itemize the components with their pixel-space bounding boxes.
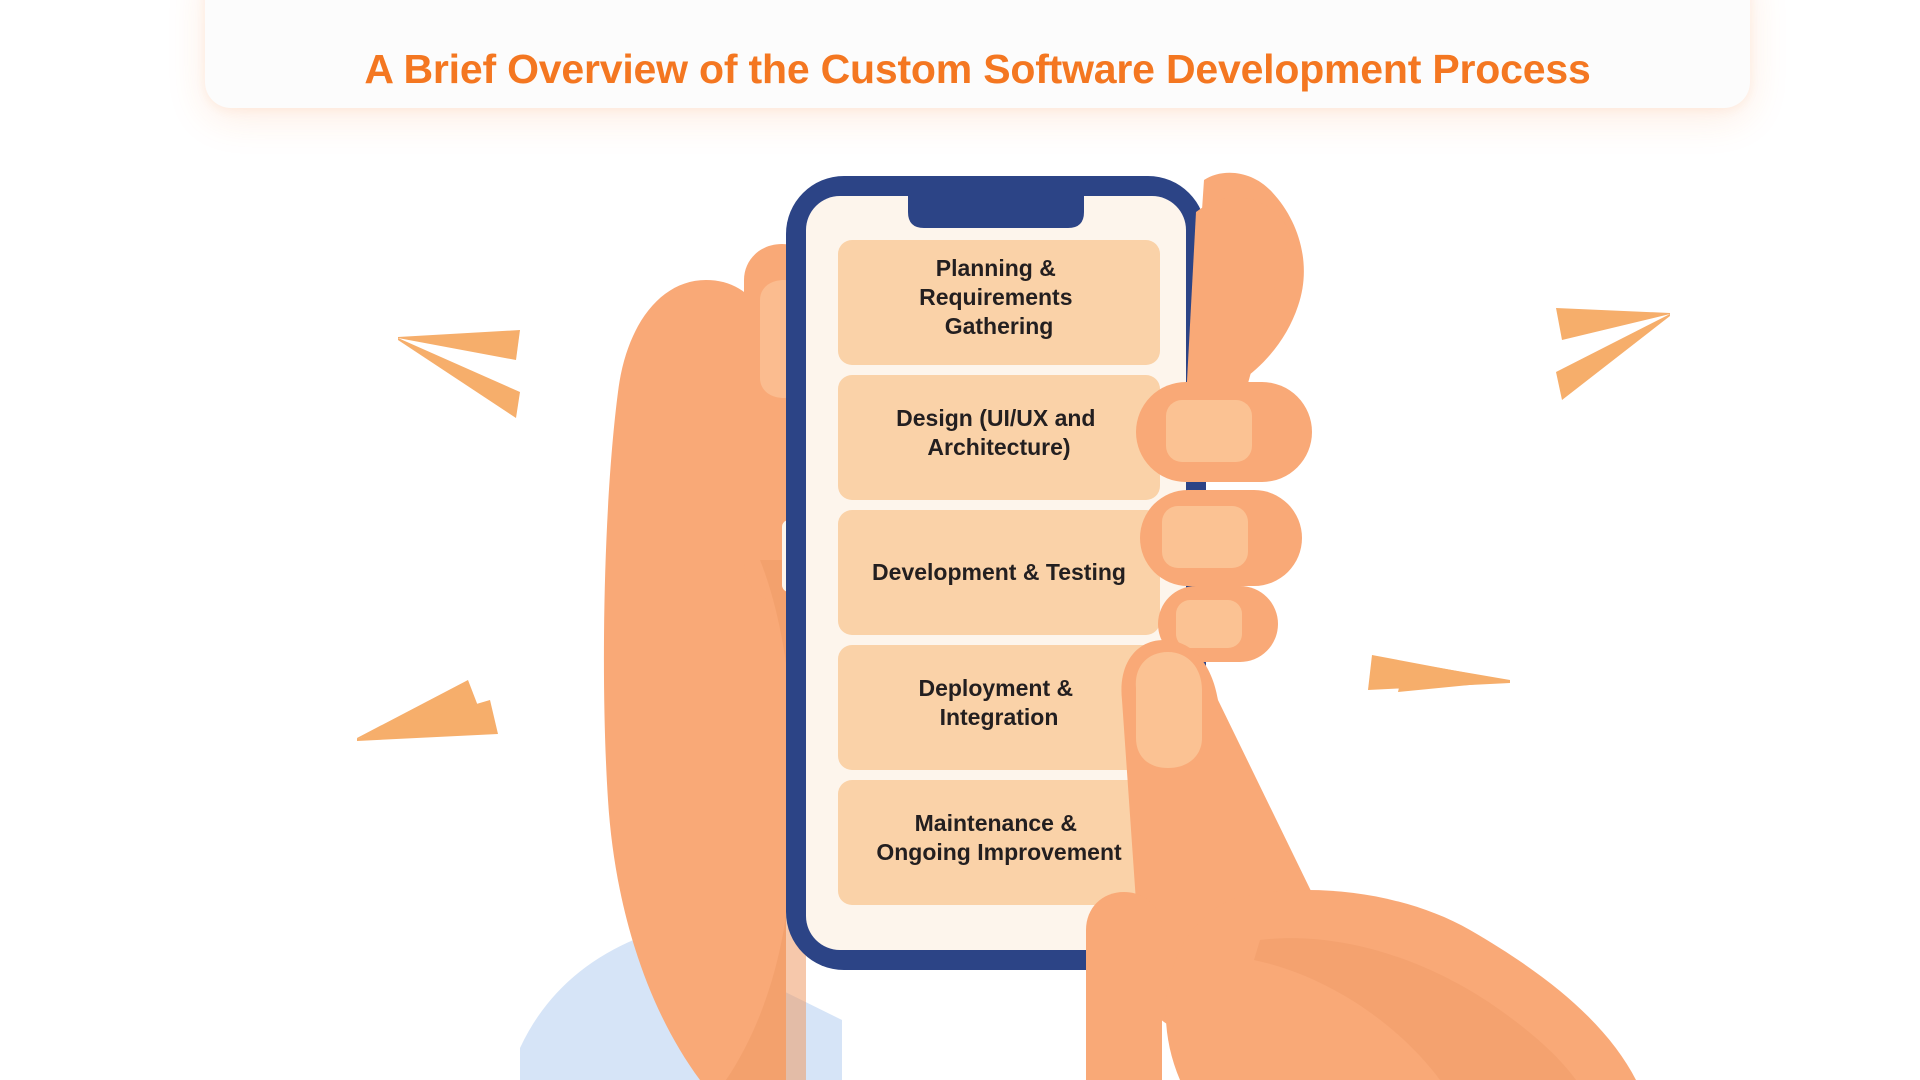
decoration-speed-lines-bottom-left [357, 680, 498, 741]
phone-notch [908, 196, 1084, 228]
decoration-speed-lines-top-right [1556, 308, 1670, 400]
right-finger-2-nail [1162, 506, 1248, 568]
decoration-speed-lines-top-left [398, 330, 520, 418]
infographic-canvas: Planning & Requirements Gathering Design… [0, 0, 1920, 1080]
decoration-speed-lines-bottom-right [1368, 655, 1510, 692]
title-banner: A Brief Overview of the Custom Software … [205, 0, 1750, 108]
page-title: A Brief Overview of the Custom Software … [364, 47, 1590, 92]
right-finger-1-nail [1166, 400, 1252, 462]
right-lower-thumb [1086, 892, 1162, 1080]
right-pointing-finger-nail [1136, 652, 1202, 768]
right-finger-2 [1140, 490, 1302, 586]
right-finger-1 [1136, 382, 1312, 482]
hands-holding-phone-illustration: Planning & Requirements Gathering Design… [0, 0, 1920, 1080]
list-label-3: Development & Testing [872, 559, 1126, 585]
right-finger-3-nail [1176, 600, 1242, 648]
